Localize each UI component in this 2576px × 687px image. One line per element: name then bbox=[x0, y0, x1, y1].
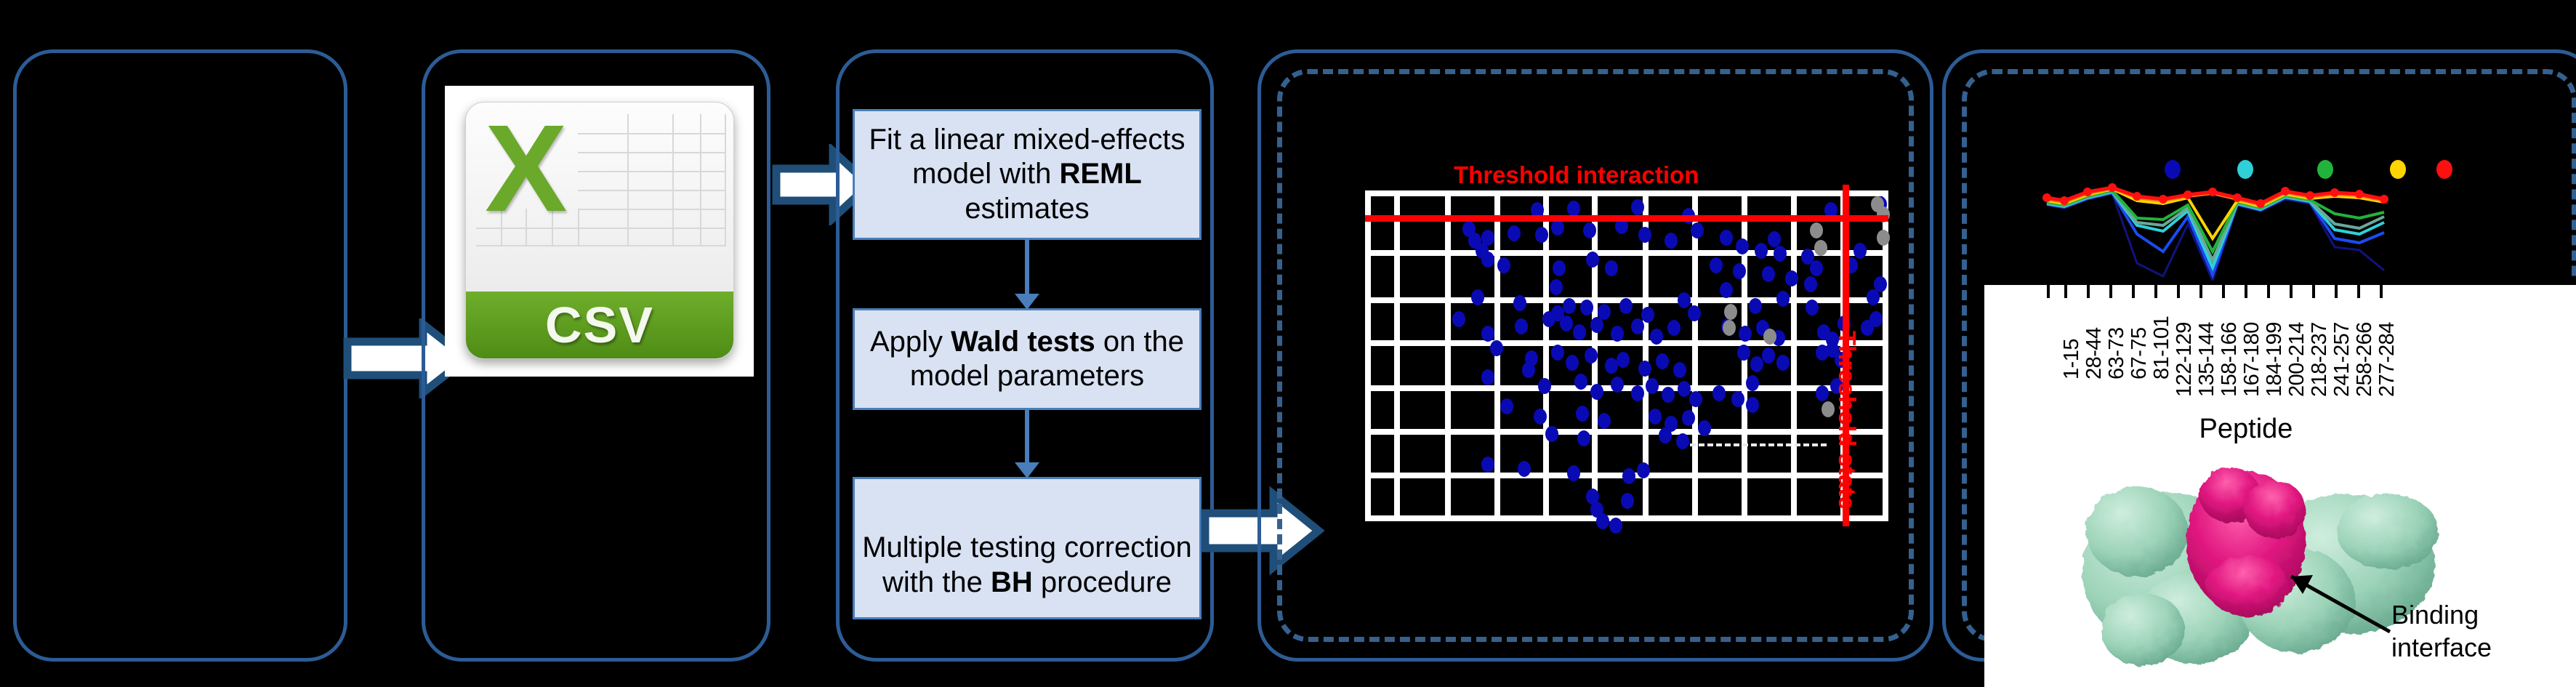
scatter-point bbox=[1563, 298, 1576, 314]
gridline-horizontal bbox=[1365, 340, 1888, 346]
gridline-horizontal bbox=[1365, 429, 1888, 435]
step-model-box: Fit a linear mixed-effects model with RE… bbox=[853, 109, 1202, 240]
axis-tick bbox=[2047, 285, 2050, 298]
plot-dashed-annotation bbox=[1681, 443, 1827, 446]
legend-dot-series-2 bbox=[2237, 160, 2253, 179]
excel-x-letter: X bbox=[485, 107, 567, 230]
scatter-point bbox=[1513, 295, 1526, 311]
scatter-point bbox=[1733, 263, 1746, 279]
peptide-axis-and-structure-card: 0.0 1-15 28-44 63-73 67-75 81-101 122-12… bbox=[1984, 281, 2576, 687]
axis-tick bbox=[2199, 285, 2202, 298]
axis-ticklabel: 135-144 bbox=[2195, 322, 2219, 397]
threshold-scatter-plot bbox=[1365, 190, 1888, 521]
peptide-chart-svg bbox=[2042, 182, 2522, 284]
scatter-point bbox=[1605, 260, 1618, 276]
scatter-point bbox=[1656, 353, 1669, 369]
threshold-interaction-label: Threshold interaction bbox=[1454, 161, 1699, 189]
axis-title-peptide: Peptide bbox=[2173, 414, 2319, 445]
scatter-point bbox=[1638, 361, 1651, 377]
scatter-point bbox=[1659, 427, 1672, 443]
axis-tick bbox=[2312, 285, 2315, 298]
scatter-point bbox=[1736, 238, 1749, 254]
scatter-point bbox=[1621, 493, 1634, 509]
scatter-point-nonsignificant bbox=[1810, 222, 1823, 238]
scatter-point bbox=[1598, 413, 1611, 429]
scatter-point bbox=[1665, 233, 1678, 249]
scatter-point bbox=[1567, 465, 1580, 481]
scatter-point bbox=[1545, 426, 1558, 442]
scatter-point bbox=[1452, 311, 1465, 327]
scatter-point bbox=[1611, 377, 1624, 393]
figure-canvas: X CSV Fit a linear mixed-effects model w… bbox=[0, 0, 2576, 687]
scatter-point bbox=[1739, 326, 1752, 342]
axis-tick bbox=[2245, 285, 2247, 298]
scatter-point bbox=[1649, 409, 1662, 425]
step-correction-box: Multiple testing correction with the BH … bbox=[853, 477, 1202, 619]
gridline-vertical bbox=[1445, 190, 1451, 521]
scatter-point bbox=[1720, 282, 1733, 298]
scatter-point bbox=[1550, 279, 1563, 295]
scatter-point bbox=[1641, 307, 1654, 323]
axis-tick bbox=[2380, 285, 2383, 298]
scatter-point bbox=[1737, 345, 1750, 361]
legend-dot-series-3 bbox=[2317, 160, 2333, 179]
scatter-point bbox=[1534, 409, 1547, 425]
scatter-point bbox=[1631, 385, 1644, 401]
scatter-point bbox=[1631, 318, 1644, 334]
peptide-axis-ylabel: 0.0 bbox=[1993, 281, 2032, 292]
threshold-state-label: Threshold state bbox=[1833, 331, 1861, 510]
axis-ticklabel: 241-257 bbox=[2330, 322, 2354, 397]
scatter-point bbox=[1774, 246, 1787, 262]
scatter-point bbox=[1566, 355, 1579, 371]
scatter-point bbox=[1678, 292, 1691, 308]
scatter-point bbox=[1538, 378, 1551, 394]
scatter-point bbox=[1861, 320, 1874, 336]
scatter-point bbox=[1804, 276, 1817, 292]
scatter-point bbox=[1500, 398, 1513, 414]
panel-input bbox=[13, 49, 347, 662]
scatter-point bbox=[1611, 326, 1624, 342]
step-model-post: estimates bbox=[965, 193, 1089, 225]
scatter-point bbox=[1667, 320, 1681, 336]
scatter-point bbox=[1553, 260, 1566, 276]
scatter-point bbox=[1596, 513, 1609, 529]
scatter-point bbox=[1481, 369, 1494, 385]
connector-model-to-wald bbox=[1025, 240, 1029, 297]
scatter-point bbox=[1746, 375, 1759, 391]
scatter-point bbox=[1574, 374, 1587, 390]
scatter-point bbox=[1631, 199, 1644, 215]
legend-dot-series-5 bbox=[2436, 160, 2452, 179]
scatter-point bbox=[1867, 289, 1880, 305]
scatter-point bbox=[1768, 231, 1781, 247]
scatter-point bbox=[1676, 433, 1689, 449]
axis-tick bbox=[2087, 285, 2090, 298]
scatter-point bbox=[1710, 257, 1723, 273]
csv-file-card: X CSV bbox=[445, 86, 754, 377]
axis-ticklabel: 81-101 bbox=[2150, 316, 2174, 379]
axis-tick bbox=[2357, 285, 2360, 298]
axis-ticklabel: 1-15 bbox=[2060, 339, 2084, 379]
axis-tick bbox=[2267, 285, 2270, 298]
axis-ticklabel: 28-44 bbox=[2082, 327, 2106, 379]
step-correction-text: Multiple testing correction with the BH … bbox=[858, 497, 1196, 600]
csv-extension-label: CSV bbox=[545, 296, 654, 354]
scatter-point bbox=[1580, 300, 1593, 316]
scatter-point bbox=[1762, 347, 1775, 363]
scatter-point bbox=[1617, 352, 1630, 368]
scatter-point bbox=[1853, 243, 1867, 259]
step-wald-bold: Wald tests bbox=[951, 326, 1095, 358]
scatter-point bbox=[1662, 387, 1675, 403]
scatter-point bbox=[1673, 362, 1686, 378]
scatter-point bbox=[1806, 300, 1819, 316]
scatter-point bbox=[1551, 220, 1564, 236]
axis-tick bbox=[2109, 285, 2112, 298]
axis-ticklabel: 277-284 bbox=[2375, 322, 2399, 397]
axis-tick bbox=[2132, 285, 2135, 298]
connector-arrowhead-wald bbox=[1015, 294, 1039, 310]
scatter-point-nonsignificant bbox=[1763, 329, 1776, 345]
step-wald-pre: Apply bbox=[870, 326, 951, 358]
gridline-vertical bbox=[1365, 190, 1371, 521]
gridline-horizontal bbox=[1365, 385, 1888, 391]
scatter-point bbox=[1682, 410, 1695, 426]
scatter-point bbox=[1689, 391, 1702, 407]
scatter-point bbox=[1577, 430, 1590, 446]
scatter-point bbox=[1816, 385, 1829, 401]
scatter-point-nonsignificant bbox=[1814, 240, 1827, 256]
scatter-point bbox=[1518, 461, 1531, 477]
scatter-point bbox=[1542, 311, 1555, 327]
scatter-point bbox=[1590, 384, 1603, 400]
scatter-point bbox=[1749, 298, 1762, 314]
axis-ticklabel: 122-129 bbox=[2173, 322, 2197, 397]
gridline-horizontal bbox=[1365, 190, 1888, 196]
axis-tick bbox=[2335, 285, 2338, 298]
gridline-horizontal bbox=[1365, 515, 1888, 521]
peptide-axis-line bbox=[1984, 281, 2576, 285]
scatter-point bbox=[1590, 317, 1603, 333]
scatter-point bbox=[1646, 378, 1659, 394]
step-correction-post: procedure bbox=[1033, 566, 1172, 598]
gridline-vertical bbox=[1394, 190, 1400, 521]
axis-ticklabel: 67-75 bbox=[2128, 327, 2152, 379]
axis-tick bbox=[2290, 285, 2293, 298]
peptide-line-chart bbox=[2042, 182, 2522, 284]
scatter-point bbox=[1810, 260, 1823, 276]
step-model-bold: REML bbox=[1059, 158, 1141, 190]
scatter-point bbox=[1637, 462, 1650, 478]
scatter-point bbox=[1515, 318, 1528, 334]
scatter-point bbox=[1785, 270, 1798, 286]
scatter-point bbox=[1573, 324, 1586, 340]
step-model-text: Fit a linear mixed-effects model with RE… bbox=[855, 123, 1199, 226]
scatter-point bbox=[1776, 355, 1790, 371]
axis-tick bbox=[2064, 285, 2067, 298]
scatter-point bbox=[1481, 457, 1494, 473]
scatter-point bbox=[1746, 397, 1759, 413]
connector-wald-to-correction bbox=[1025, 410, 1029, 465]
axis-ticklabel: 158-166 bbox=[2218, 322, 2242, 397]
scatter-point bbox=[1638, 227, 1651, 243]
scatter-point bbox=[1691, 222, 1704, 238]
binding-interface-label: Binding interface bbox=[2391, 598, 2492, 664]
scatter-point bbox=[1762, 266, 1775, 282]
scatter-point bbox=[1481, 230, 1494, 246]
scatter-point bbox=[1560, 316, 1573, 332]
axis-ticklabel: 167-180 bbox=[2240, 322, 2264, 397]
scatter-point bbox=[1576, 406, 1589, 422]
scatter-point-nonsignificant bbox=[1723, 320, 1736, 336]
gridline-vertical bbox=[1791, 190, 1797, 521]
threshold-interaction-line bbox=[1365, 215, 1888, 222]
scatter-point bbox=[1720, 230, 1733, 246]
scatter-point bbox=[1535, 227, 1548, 243]
scatter-point bbox=[1678, 381, 1691, 397]
scatter-point bbox=[1698, 420, 1711, 436]
scatter-point bbox=[1650, 329, 1663, 345]
scatter-point bbox=[1688, 305, 1701, 321]
connector-arrowhead-correction bbox=[1015, 462, 1039, 478]
scatter-point bbox=[1712, 385, 1726, 401]
scatter-point bbox=[1583, 222, 1596, 238]
scatter-point bbox=[1619, 298, 1633, 314]
scatter-point bbox=[1755, 243, 1768, 259]
scatter-point bbox=[1776, 291, 1790, 307]
legend-dot-series-4 bbox=[2390, 160, 2406, 179]
step-wald-box: Apply Wald tests on the model parameters bbox=[853, 308, 1202, 410]
scatter-point bbox=[1609, 518, 1622, 534]
scatter-point bbox=[1471, 289, 1484, 305]
scatter-point-nonsignificant bbox=[1724, 304, 1737, 320]
axis-ticklabel: 63-73 bbox=[2105, 327, 2129, 379]
gridline-vertical bbox=[1692, 190, 1698, 521]
axis-ticklabel: 200-214 bbox=[2285, 322, 2309, 397]
step-correction-bold: BH bbox=[991, 566, 1033, 598]
axis-ticklabel: 184-199 bbox=[2263, 322, 2287, 397]
axis-ticklabel: 218-237 bbox=[2308, 322, 2332, 397]
axis-tick bbox=[2154, 285, 2157, 298]
scatter-point bbox=[1481, 326, 1494, 342]
scatter-point bbox=[1750, 356, 1763, 372]
scatter-point bbox=[1567, 201, 1580, 217]
csv-file-icon: X CSV bbox=[465, 102, 734, 359]
scatter-point bbox=[1622, 468, 1635, 484]
legend-dot-series-1 bbox=[2165, 160, 2181, 179]
scatter-point bbox=[1551, 345, 1564, 361]
scatter-point bbox=[1585, 347, 1598, 363]
scatter-point bbox=[1490, 340, 1503, 356]
step-wald-text: Apply Wald tests on the model parameters bbox=[855, 325, 1199, 393]
scatter-point bbox=[1481, 252, 1494, 268]
axis-ticklabel: 258-266 bbox=[2353, 322, 2377, 397]
csv-extension-band: CSV bbox=[466, 292, 733, 358]
scatter-point bbox=[1731, 391, 1744, 407]
scatter-point-nonsignificant bbox=[1877, 230, 1890, 246]
axis-tick bbox=[2177, 285, 2180, 298]
scatter-point bbox=[1522, 362, 1535, 378]
scatter-point bbox=[1508, 225, 1521, 241]
scatter-point bbox=[1497, 257, 1510, 273]
axis-tick bbox=[2222, 285, 2225, 298]
scatter-point bbox=[1586, 252, 1599, 268]
